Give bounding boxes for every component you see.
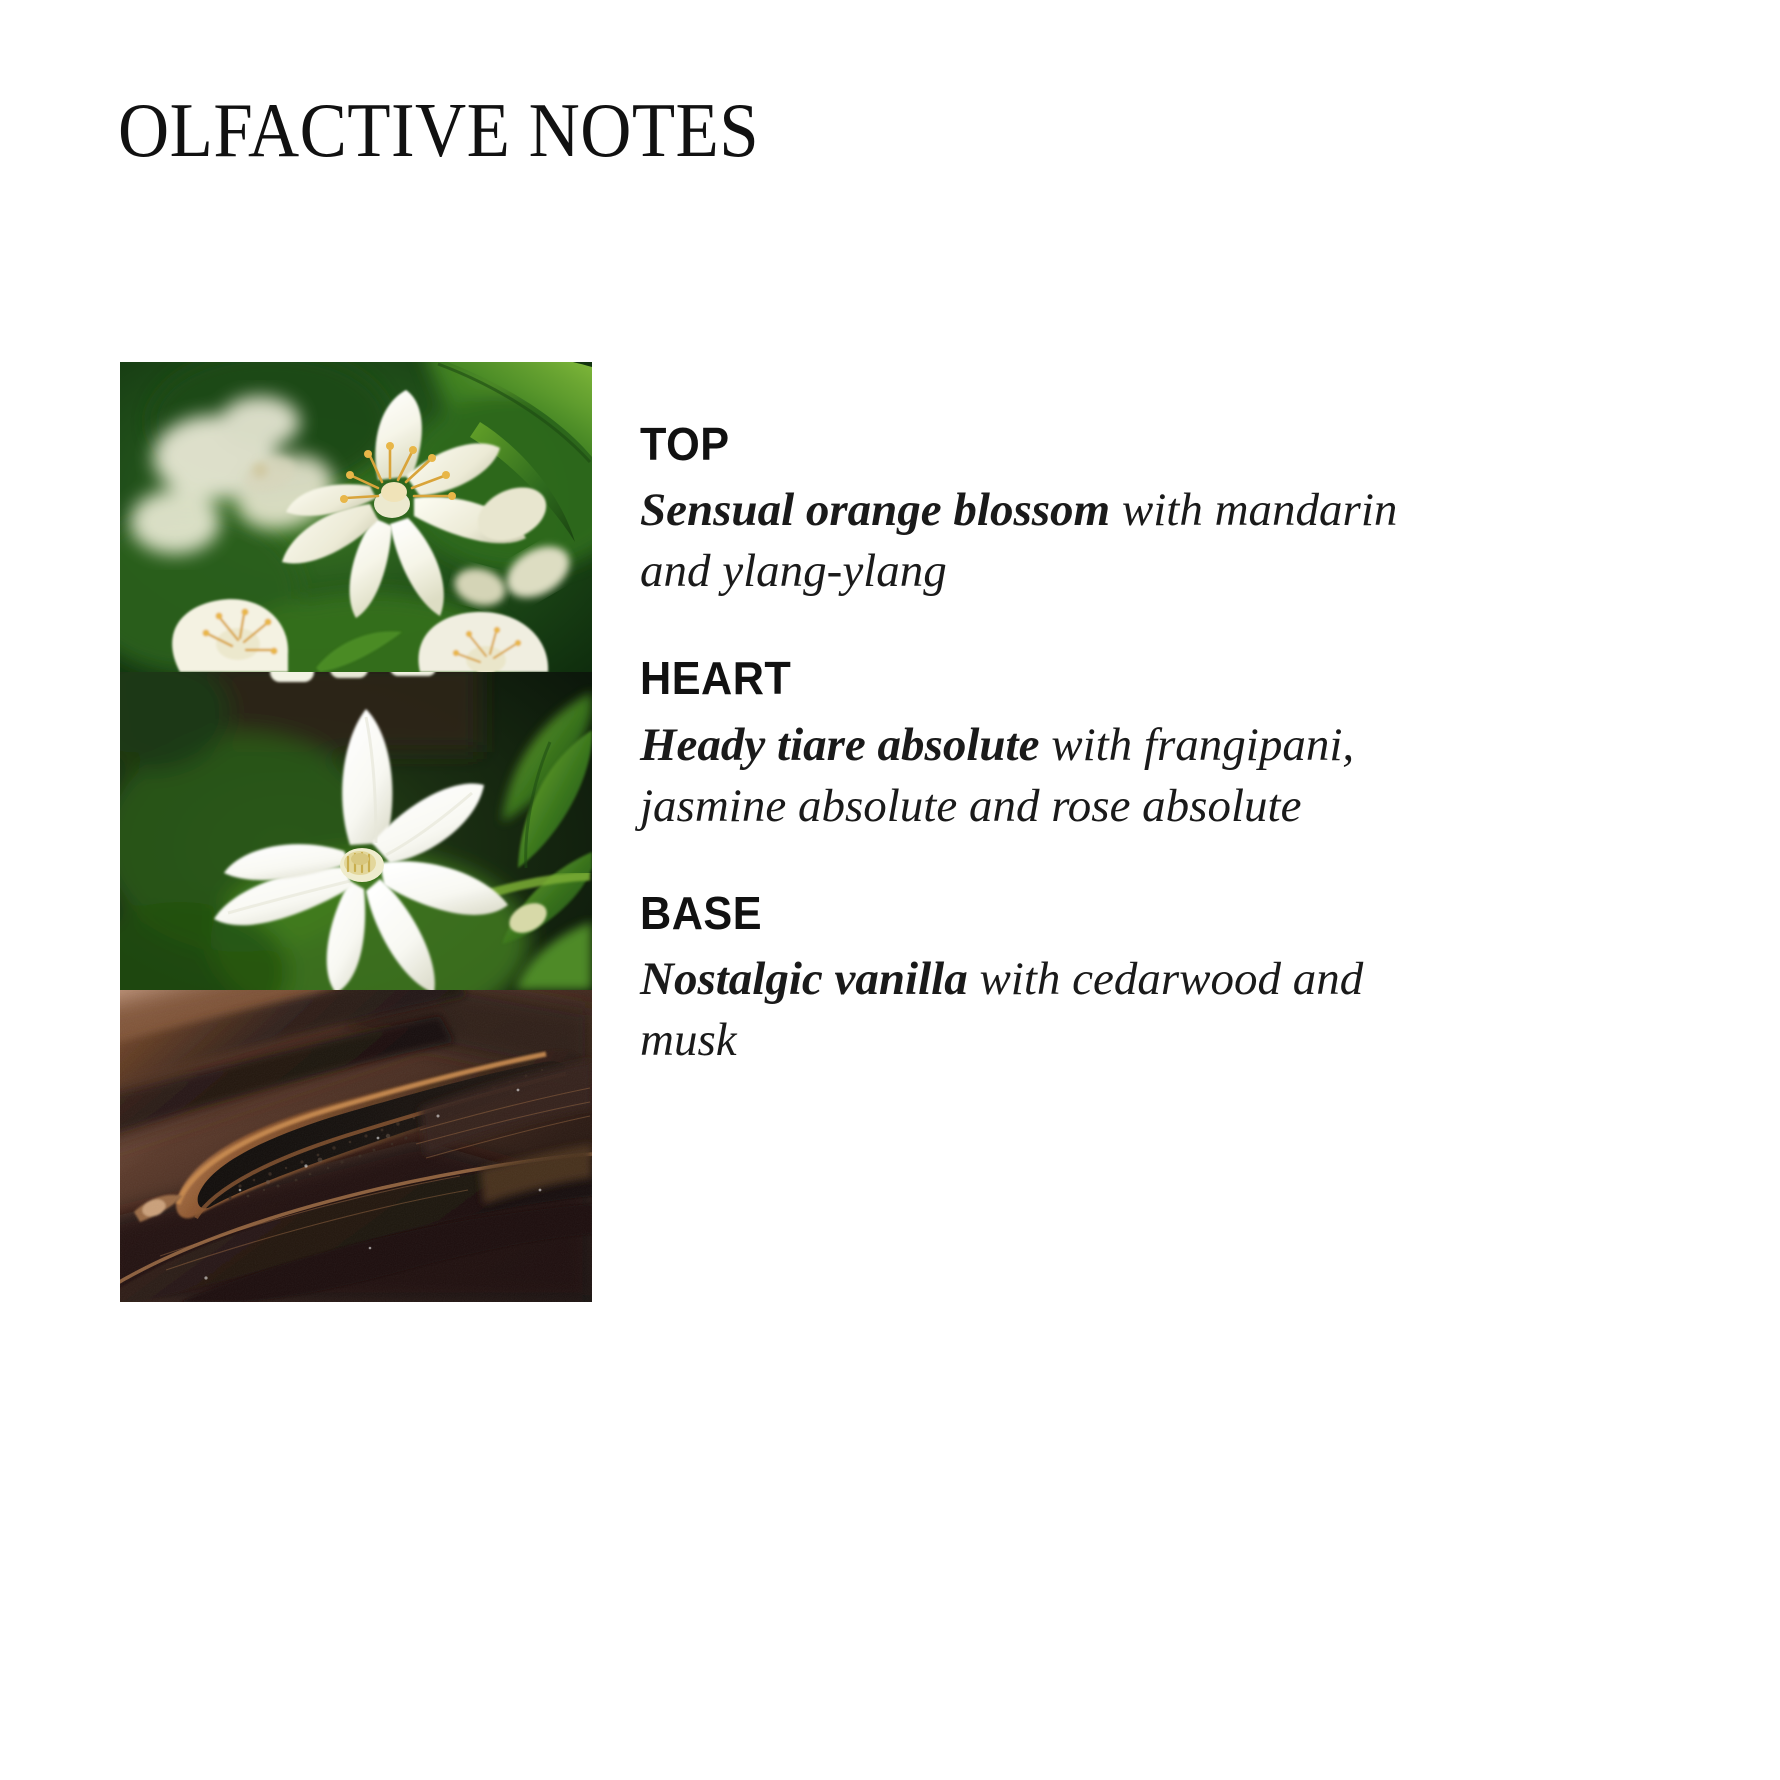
note-description-base: Nostalgic vanilla with cedarwood and mus… [640,949,1400,1071]
note-block-base: BASE Nostalgic vanilla with cedarwood an… [640,889,1480,1071]
note-label-base: BASE [640,889,1430,937]
olfactive-notes-page: OLFACTIVE NOTES [0,0,1780,1780]
note-image-column [120,362,592,1302]
note-block-heart: HEART Heady tiare absolute with frangipa… [640,654,1480,836]
note-description-heart: Heady tiare absolute with frangipani, ja… [640,715,1400,837]
note-lead-base: Nostalgic vanilla [640,953,968,1005]
note-lead-top: Sensual orange blossom [640,484,1110,536]
vanilla-pods-illustration [120,990,592,1302]
orange-blossom-illustration [120,362,592,672]
olfactive-notes-list: TOP Sensual orange blossom with mandarin… [640,420,1480,1071]
vanilla-pods-photo [120,990,592,1302]
note-label-heart: HEART [640,654,1430,702]
page-title: OLFACTIVE NOTES [118,92,759,169]
note-description-top: Sensual orange blossom with mandarin and… [640,480,1400,602]
note-block-top: TOP Sensual orange blossom with mandarin… [640,420,1480,602]
tiare-flower-photo [120,672,592,990]
note-lead-heart: Heady tiare absolute [640,719,1039,771]
tiare-flower-illustration [120,672,592,990]
note-label-top: TOP [640,420,1430,468]
orange-blossom-photo [120,362,592,672]
